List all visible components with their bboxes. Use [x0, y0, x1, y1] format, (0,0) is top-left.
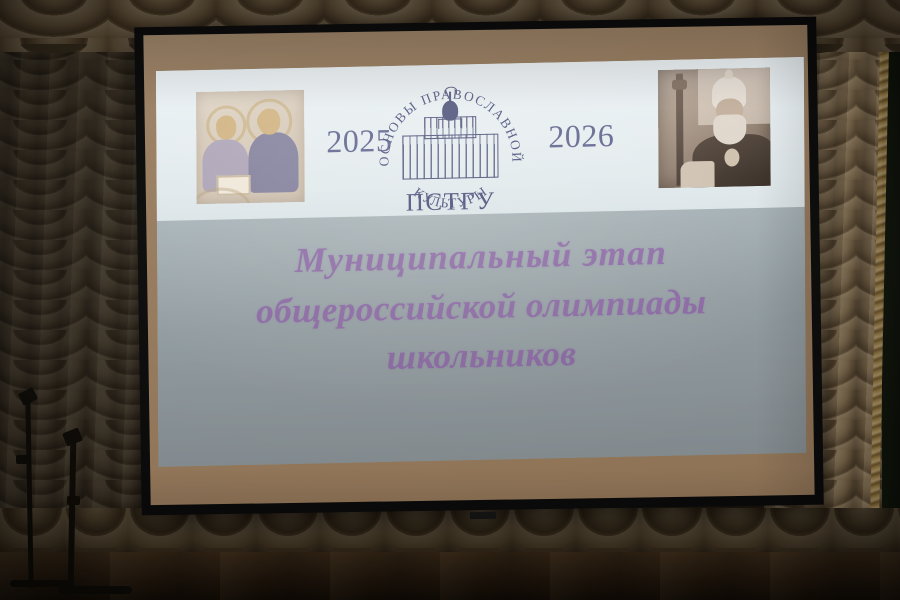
curtain-skirt [0, 508, 900, 554]
screen-bottom-tab [470, 512, 496, 519]
university-building-icon [402, 104, 498, 180]
projector-screen-frame: 2025 ОСНОВЫ ПРАВОСЛАВНОЙ КУЛЬТУРЫ [134, 17, 824, 516]
photo-scene: 2025 ОСНОВЫ ПРАВОСЛАВНОЙ КУЛЬТУРЫ [0, 0, 900, 600]
slide-title: Муниципальный этап общероссийской олимпи… [157, 225, 806, 388]
year-end-label: 2026 [548, 117, 614, 155]
microphone-base-2 [58, 586, 132, 594]
screen-unlit-area [151, 491, 815, 505]
patriarch-tikhon-portrait-icon [658, 68, 771, 188]
microphone-clamp-2 [67, 496, 80, 505]
slide-header-band: 2025 ОСНОВЫ ПРАВОСЛАВНОЙ КУЛЬТУРЫ [156, 57, 805, 221]
pstgu-emblem: ОСНОВЫ ПРАВОСЛАВНОЙ КУЛЬТУРЫ [374, 67, 527, 216]
microphone-clamp-1 [16, 455, 28, 464]
stage-floor [0, 552, 900, 600]
emblem-abbreviation: ПСТГУ [375, 187, 527, 218]
fresco-of-saints-icon [196, 90, 305, 204]
projector-screen-surface: 2025 ОСНОВЫ ПРАВОСЛАВНОЙ КУЛЬТУРЫ [143, 25, 814, 505]
projected-slide: 2025 ОСНОВЫ ПРАВОСЛАВНОЙ КУЛЬТУРЫ [156, 57, 806, 467]
